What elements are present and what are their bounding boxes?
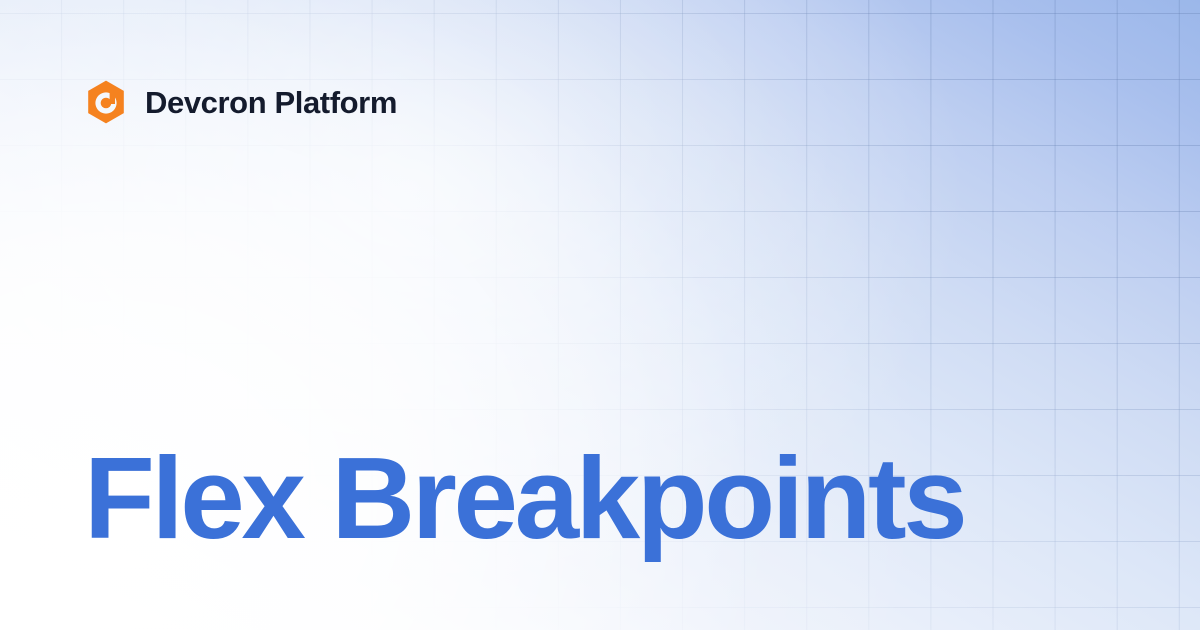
hero-title: Flex Breakpoints (84, 440, 964, 556)
brand-lockup: Devcron Platform (85, 80, 397, 124)
devcron-hexagon-logo-icon (85, 80, 127, 124)
logo-center-dot (101, 98, 112, 109)
social-card: Devcron Platform Flex Breakpoints (0, 0, 1200, 630)
brand-name: Devcron Platform (145, 87, 397, 118)
